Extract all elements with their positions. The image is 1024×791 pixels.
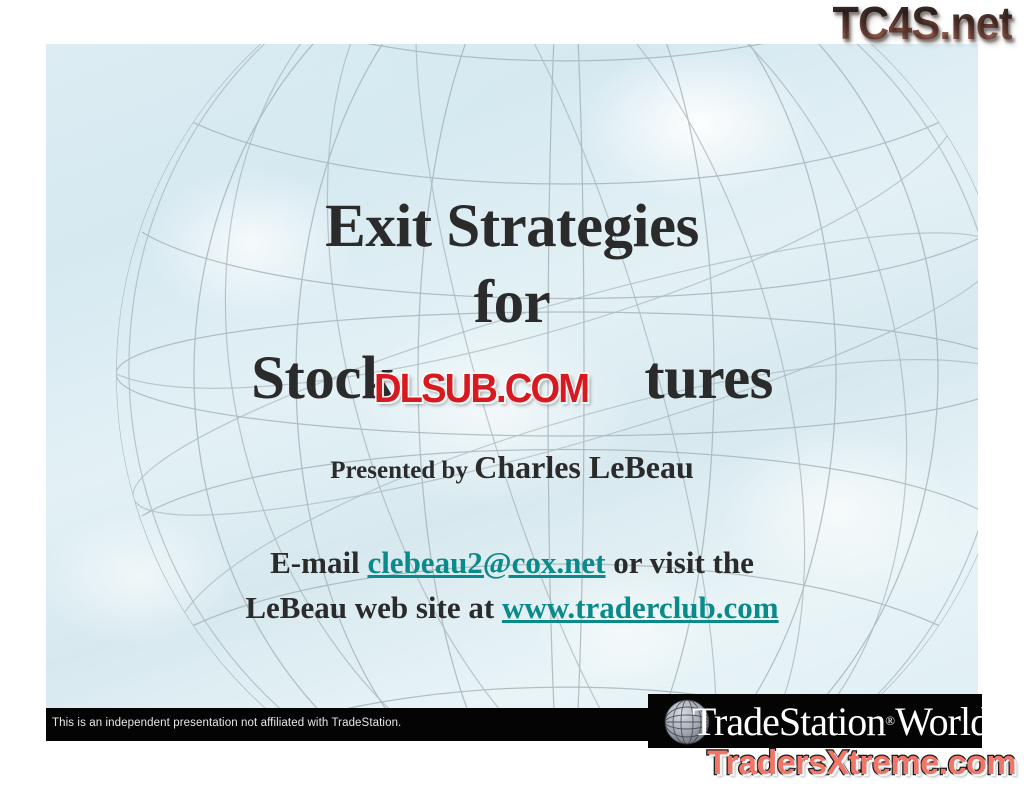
disclaimer-text: This is an independent presentation not …: [52, 717, 401, 729]
logo-text-world: World: [895, 699, 982, 744]
presenter-line: Presented by Charles LeBeau: [46, 449, 978, 486]
contact-line-1: E-mail clebeau2@cox.net or visit the: [46, 540, 978, 585]
tradestationworld-wordmark: TradeStation®World: [692, 695, 982, 748]
contact-line-2: LeBeau web site at www.traderclub.com: [46, 585, 978, 630]
email-link[interactable]: clebeau2@cox.net: [367, 545, 605, 580]
presenter-name: Charles LeBeau: [474, 449, 694, 485]
email-suffix: or visit the: [605, 545, 753, 580]
title-line-3-left: Stock: [251, 345, 394, 412]
presenter-prefix: Presented by: [330, 457, 474, 484]
website-label: LeBeau web site at: [245, 590, 502, 625]
website-link[interactable]: www.traderclub.com: [502, 590, 779, 625]
title-line-3-right: tures: [644, 345, 773, 412]
watermark-dlsub: DLSUB.COM: [374, 365, 588, 412]
registered-mark-icon: ®: [885, 713, 895, 728]
email-label: E-mail: [270, 545, 367, 580]
title-line-1: Exit Strategies: [46, 189, 978, 265]
tradestationworld-logo: TradeStation®World: [648, 694, 982, 748]
watermark-tradersxtreme: TradersXtreme.com: [707, 744, 1016, 783]
watermark-tc4s: TC4S.net: [832, 0, 1012, 50]
contact-block: E-mail clebeau2@cox.net or visit the LeB…: [46, 540, 978, 630]
title-line-2: for: [46, 265, 978, 341]
logo-text-tradestation: TradeStation: [692, 699, 885, 744]
slide-stage: Exit Strategies for Stocktures Presented…: [0, 0, 1024, 791]
